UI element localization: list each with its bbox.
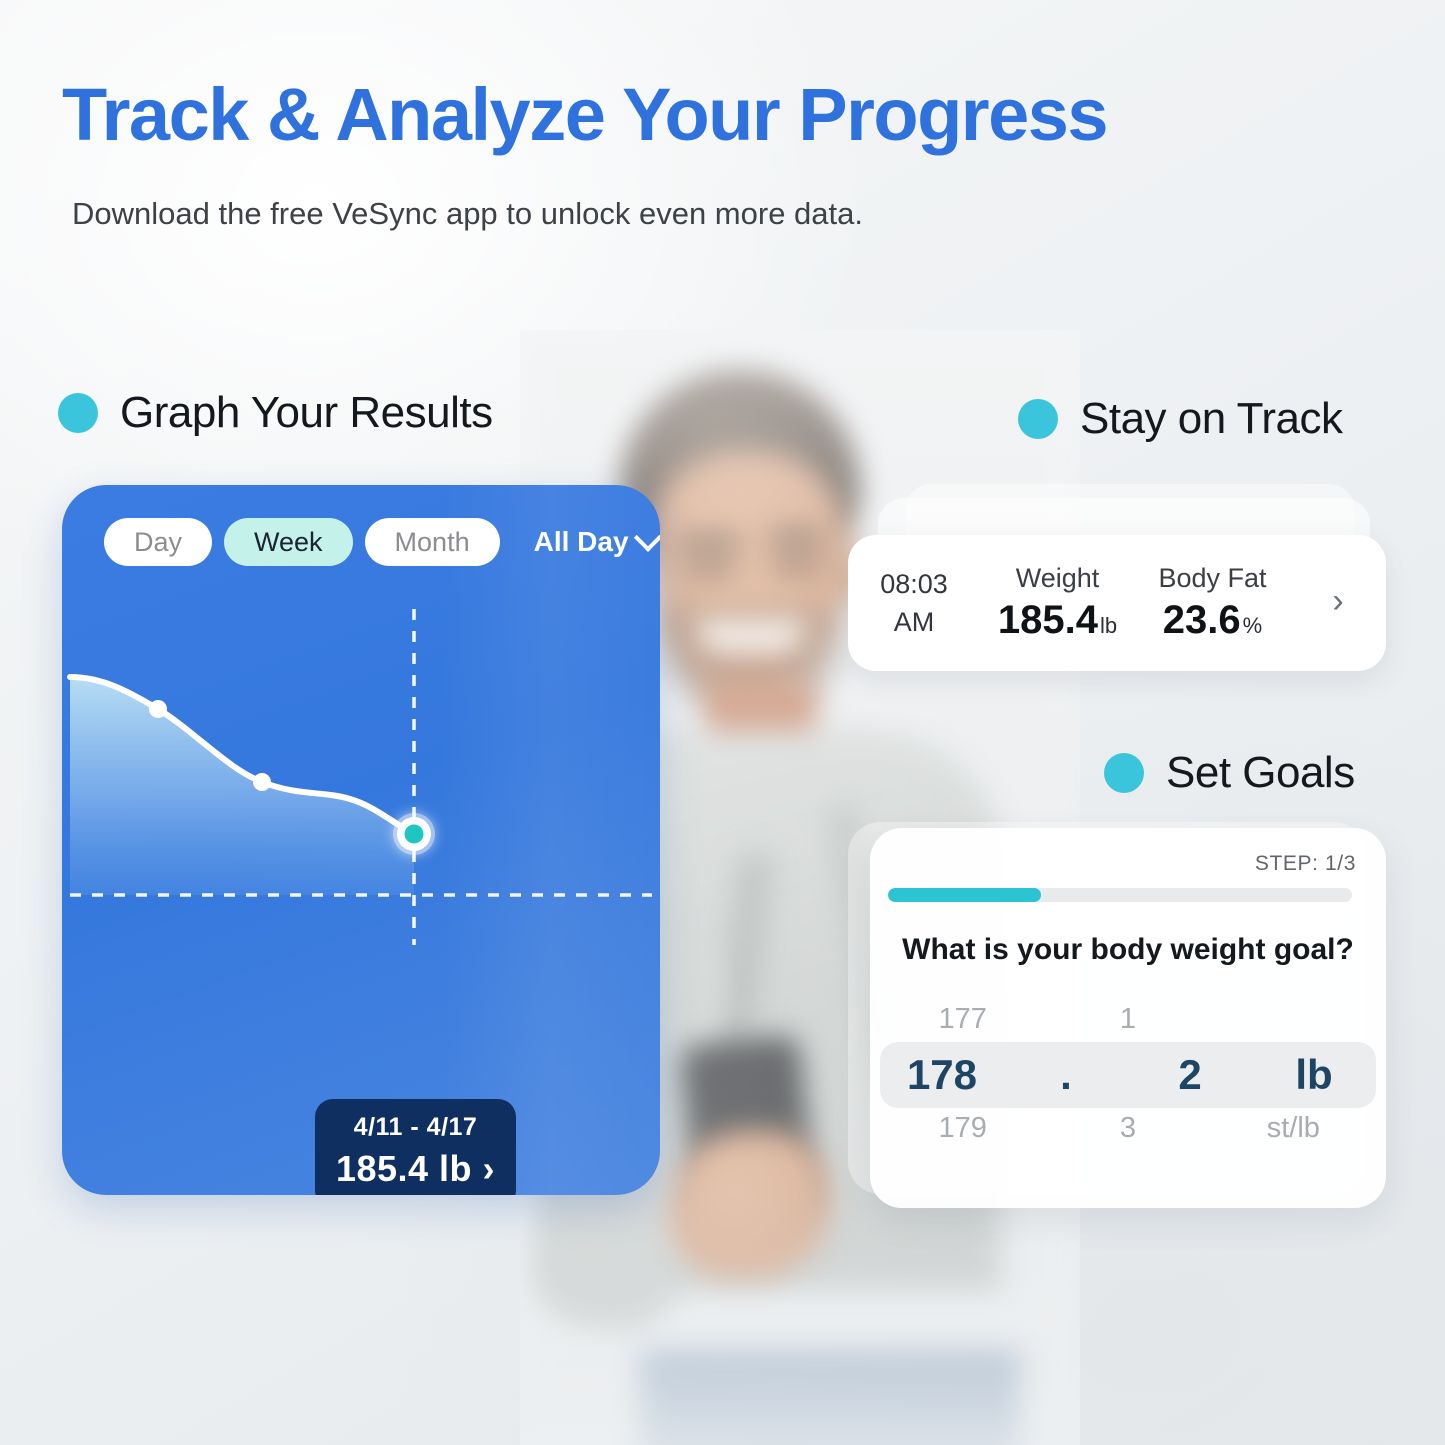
record-time-meridiem: AM: [848, 603, 980, 641]
picker-unit-selected: lb: [1252, 1051, 1376, 1099]
section-title-text: Graph Your Results: [120, 388, 493, 438]
section-title-text: Set Goals: [1166, 748, 1355, 798]
data-point[interactable]: [253, 773, 271, 791]
step-indicator: STEP: 1/3: [1255, 852, 1356, 876]
all-day-label: All Day: [534, 526, 629, 558]
chevron-right-icon: ›: [483, 1148, 496, 1189]
chevron-right-icon[interactable]: ›: [1290, 582, 1386, 625]
picker-decimal-selected: 2: [1128, 1051, 1252, 1099]
progress-bar-fill: [888, 888, 1041, 902]
picker-whole-below: 179: [880, 1112, 1045, 1145]
chevron-down-icon: [633, 524, 660, 552]
section-heading-graph-your-results: Graph Your Results: [58, 388, 493, 438]
chart-svg: [62, 605, 660, 1045]
bullet-dot-icon: [1104, 753, 1144, 793]
section-heading-set-goals: Set Goals: [1104, 748, 1355, 798]
picker-unit-below: st/lb: [1211, 1112, 1376, 1145]
record-weight-label: Weight: [980, 563, 1135, 594]
record-bodyfat-unit: %: [1243, 613, 1263, 638]
tooltip-value: 185.4 lb ›: [315, 1148, 516, 1190]
record-weight-unit: lb: [1100, 613, 1117, 638]
timeframe-segmented-control: Day Week Month All Day: [104, 518, 658, 566]
record-column-weight: Weight 185.4lb: [980, 563, 1135, 643]
goal-question-text: What is your body weight goal?: [870, 933, 1386, 967]
chart-area-fill: [70, 677, 414, 895]
weight-chart-card: Day Week Month All Day: [62, 485, 660, 1195]
data-point-selected-core: [405, 825, 424, 844]
all-day-dropdown[interactable]: All Day: [534, 526, 658, 558]
tab-month[interactable]: Month: [365, 518, 500, 566]
bullet-dot-icon: [1018, 399, 1058, 439]
promo-page: Track & Analyze Your Progress Download t…: [0, 0, 1445, 1445]
section-title-text: Stay on Track: [1080, 394, 1343, 444]
weight-trend-plot: [62, 605, 660, 1045]
page-subtitle: Download the free VeSync app to unlock e…: [72, 196, 863, 232]
tab-week[interactable]: Week: [224, 518, 353, 566]
picker-row-selected[interactable]: 178 . 2 lb: [880, 1042, 1376, 1108]
record-bodyfat-label: Body Fat: [1135, 563, 1290, 594]
progress-bar-track: [888, 888, 1352, 902]
weight-record-card[interactable]: 08:03 AM Weight 185.4lb Body Fat 23.6% ›: [848, 535, 1386, 671]
record-weight-value: 185.4lb: [980, 598, 1135, 643]
picker-whole-selected: 178: [880, 1051, 1004, 1099]
picker-decimal-separator: .: [1004, 1067, 1128, 1084]
record-column-body-fat: Body Fat 23.6%: [1135, 563, 1290, 643]
page-title: Track & Analyze Your Progress: [62, 72, 1107, 157]
picker-decimal-above: 1: [1045, 1003, 1210, 1036]
section-heading-stay-on-track: Stay on Track: [1018, 394, 1343, 444]
tooltip-date-range: 4/11 - 4/17: [315, 1113, 516, 1142]
record-bodyfat-value: 23.6%: [1135, 598, 1290, 643]
record-weight-number: 185.4: [998, 598, 1098, 642]
picker-decimal-below: 3: [1045, 1112, 1210, 1145]
set-goals-card: STEP: 1/3 What is your body weight goal?…: [870, 828, 1386, 1208]
record-bodyfat-number: 23.6: [1163, 598, 1241, 642]
chart-tooltip[interactable]: 4/11 - 4/17 185.4 lb ›: [315, 1099, 516, 1195]
picker-whole-above: 177: [880, 1003, 1045, 1036]
picker-row-above[interactable]: 177 1: [880, 1003, 1376, 1036]
record-timestamp: 08:03 AM: [848, 565, 980, 642]
data-point[interactable]: [149, 700, 167, 718]
tab-day[interactable]: Day: [104, 518, 212, 566]
record-time-hhmm: 08:03: [848, 565, 980, 603]
bullet-dot-icon: [58, 393, 98, 433]
picker-row-below[interactable]: 179 3 st/lb: [880, 1112, 1376, 1145]
tooltip-value-text: 185.4 lb: [336, 1148, 472, 1189]
